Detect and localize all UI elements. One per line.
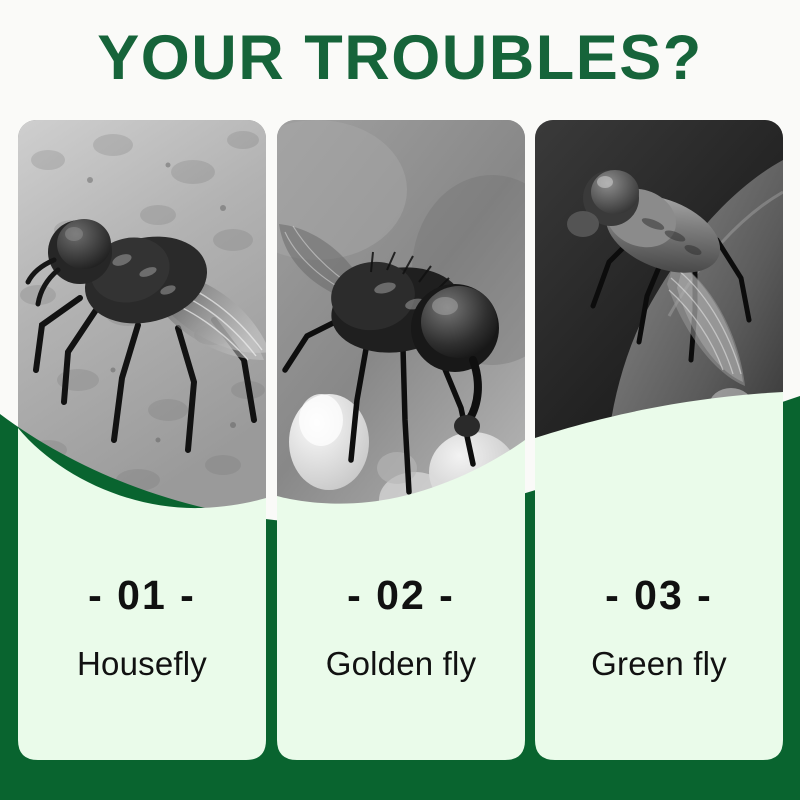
poster-root: YOUR TROUBLES? xyxy=(0,0,800,800)
fly-card-green-fly[interactable]: - 03 - Green fly xyxy=(535,392,783,760)
card-label-housefly: Housefly xyxy=(18,644,266,684)
card-label-golden-fly: Golden fly xyxy=(277,644,525,684)
card-number-01: - 01 - xyxy=(18,572,266,618)
card-number-02: - 02 - xyxy=(277,572,525,618)
page-title: YOUR TROUBLES? xyxy=(0,22,800,94)
fly-card-housefly[interactable]: - 01 - Housefly xyxy=(18,392,266,760)
fly-card-list: - 01 - Housefly - 02 - Golden fly - 03 -… xyxy=(0,392,800,800)
card-label-green-fly: Green fly xyxy=(535,644,783,684)
card-number-03: - 03 - xyxy=(535,572,783,618)
fly-card-golden-fly[interactable]: - 02 - Golden fly xyxy=(277,392,525,760)
